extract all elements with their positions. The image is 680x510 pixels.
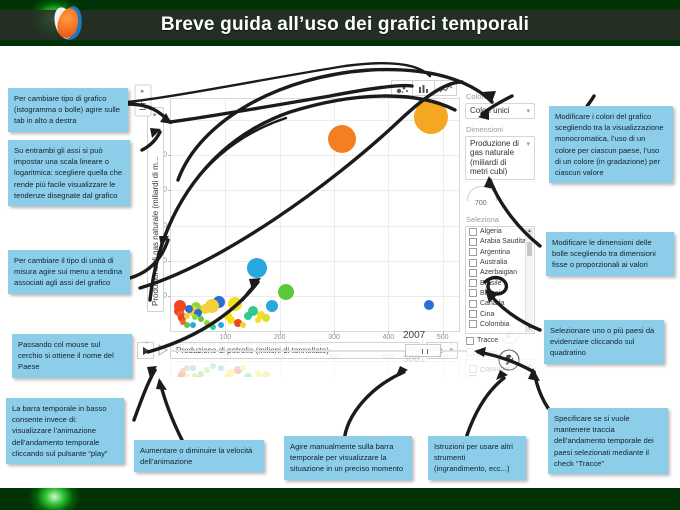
country-row[interactable]: Argentina [466,247,534,257]
size-option-select[interactable]: Produzione di gas naturale (miliardi di … [465,136,535,180]
data-bubble[interactable] [184,313,190,319]
play-button[interactable] [137,342,154,359]
country-checkbox[interactable] [469,259,477,267]
country-checkbox[interactable] [469,269,477,277]
note-bubble-size: Modificare le dimensioni delle bolle sce… [546,232,674,276]
page-title: Breve guida all’uso dei grafici temporal… [110,11,580,39]
y-tick-mark [168,226,171,227]
country-label: Azerbaigian [480,269,517,276]
slider-grip-icon [422,349,428,354]
note-timeline-play: La barra temporale in basso consente inv… [6,398,124,464]
country-label: Australia [480,259,507,266]
country-row[interactable]: Brasile [466,278,534,288]
x-tick-mark [280,331,281,334]
note-tracce: Specificare se si vuole mantenere tracci… [548,408,668,474]
country-row[interactable]: Arabia Saudita [466,237,534,247]
timeline-player: 2007 [137,342,467,362]
country-row[interactable]: Australia [466,257,534,267]
marble-texture-bottom [0,488,680,510]
chart-type-tabs[interactable] [391,80,457,96]
size-legend-arc [467,186,497,201]
y-axis-scale-select[interactable]: Lin ▾ [135,85,152,117]
y-axis-variable-label: Produzione di gas naturale (miliardi di … [151,157,160,306]
note-select-countries: Selezionare uno o più paesi da evidenzia… [544,320,664,364]
data-bubble[interactable] [244,312,252,320]
note-axis-scale: Su entrambi gli assi si può impostar una… [8,140,130,206]
data-bubble[interactable] [262,314,270,322]
gapminder-app: 100200300400500100200300400500600 Produz… [145,86,535,376]
x-tick-label: 100 [219,334,231,341]
plot-canvas: 100200300400500100200300400500600 [171,99,459,331]
x-tick-label: 500 [437,334,449,341]
y-axis-scale-label: Lin [139,100,148,111]
data-bubble[interactable] [424,300,434,310]
orange-blue-leaf-logo-icon [52,4,86,42]
y-gridline [171,226,459,227]
data-bubble[interactable] [240,322,246,328]
x-tick-label: 200 [274,334,286,341]
x-tick-label: 400 [383,334,395,341]
data-bubble[interactable] [190,322,196,328]
chart-options-panel: Colore Colori unici ▾ Dimensioni Produzi… [465,92,535,345]
color-option-select[interactable]: Colori unici ▾ [465,103,535,119]
chevron-down-icon: ▾ [526,140,530,150]
note-axis-units: Per cambiare il tipo di unità di misura … [8,250,130,294]
y-tick-mark [168,120,171,121]
country-checkbox[interactable] [469,279,477,287]
country-row[interactable]: Azerbaigian [466,268,534,278]
country-label: Arabia Saudita [480,238,526,245]
country-label: Colombia [480,321,510,328]
country-label: Argentina [480,249,510,256]
play-triangle-icon [143,347,150,355]
y-gridline [171,190,459,191]
note-manual-timeline: Agire manualmente sulla barra temporale … [284,436,412,480]
size-option-label: Dimensioni [466,125,535,134]
chart-plot-area[interactable]: 100200300400500100200300400500600 [170,98,460,332]
country-row[interactable]: Colombia [466,319,534,329]
country-checkbox[interactable] [469,300,477,308]
chevron-down-icon: ▾ [136,90,152,94]
size-option-value: Produzione di gas naturale (miliardi di … [470,139,519,177]
y-tick-mark [168,296,171,297]
data-bubble[interactable] [278,284,294,300]
data-bubble[interactable] [247,258,267,278]
y-gridline [171,261,459,262]
data-bubble[interactable] [192,314,198,320]
bubble-chart-tab[interactable] [391,80,413,96]
note-animation-speed: Aumentare o diminuire la velocità dell’a… [134,440,264,472]
tracce-checkbox[interactable] [466,337,474,345]
x-tick-label: 300 [328,334,340,341]
y-tick-mark [168,261,171,262]
country-row[interactable]: Brunei [466,288,534,298]
x-tick-mark [388,331,389,334]
note-other-tools: Istruzioni per usare altri strumenti (in… [428,436,526,480]
y-tick-mark [168,190,171,191]
timeline-slider-handle[interactable] [405,344,441,357]
country-list-scrollbar[interactable]: ▲ ▼ [525,228,533,332]
note-hover-country: Passando col mouse sul cerchio si ottien… [12,334,132,378]
y-tick-mark [168,155,171,156]
country-label: Canada [480,300,505,307]
wrench-tool-icon[interactable] [497,348,521,372]
scroll-down-icon[interactable]: ▼ [526,325,533,332]
size-legend-value: 700 [475,200,487,207]
country-label: Cina [480,311,494,318]
data-bubble[interactable] [218,322,224,328]
country-row[interactable]: Algeria [466,227,534,237]
country-select-label: Seleziona [466,215,535,224]
country-row[interactable]: Canada [466,299,534,309]
x-tick-mark [443,331,444,334]
country-checkbox[interactable] [469,320,477,328]
country-label: Brunei [480,290,500,297]
data-bubble[interactable] [266,300,278,312]
y-axis-variable-select[interactable]: Produzione di gas naturale (miliardi di … [147,107,164,312]
speed-control-icon[interactable] [158,344,169,356]
country-checkbox[interactable] [469,310,477,318]
note-colors: Modificare i colori del grafico sceglien… [549,106,673,183]
line-chart-tab[interactable] [435,80,457,96]
x-tick-mark [225,331,226,334]
current-year-label: 2007 [403,330,425,341]
country-checkbox[interactable] [469,238,477,246]
data-bubble[interactable] [328,125,356,153]
chevron-down-icon: ▾ [526,107,530,117]
bar-chart-tab[interactable] [413,80,435,96]
data-bubble[interactable] [414,100,448,134]
data-bubble[interactable] [204,320,210,326]
country-label: Brasile [480,280,501,287]
x-tick-mark [334,331,335,334]
data-bubble[interactable] [210,324,216,330]
bubble-size-legend: 700 [465,186,535,210]
tracce-checkbox-row[interactable]: Tracce [465,337,535,345]
note-chart-type: Per cambiare tipo di grafico (istogramma… [8,88,128,132]
country-checkbox[interactable] [469,228,477,236]
country-checkbox[interactable] [469,248,477,256]
country-select-list[interactable]: ▲ ▼ AlgeriaArabia SauditaArgentinaAustra… [465,226,535,334]
country-label: Algeria [480,228,502,235]
scroll-up-icon[interactable]: ▲ [526,228,533,235]
data-bubble[interactable] [255,317,261,323]
y-gridline [171,155,459,156]
scrollbar-thumb[interactable] [527,242,532,256]
country-checkbox[interactable] [469,289,477,297]
color-option-value: Colori unici [470,106,510,115]
footer-decorative-band [0,488,680,510]
color-option-label: Colore [466,92,535,101]
country-row[interactable]: Cina [466,309,534,319]
tracce-label: Tracce [477,337,498,344]
data-bubble[interactable] [228,297,242,311]
